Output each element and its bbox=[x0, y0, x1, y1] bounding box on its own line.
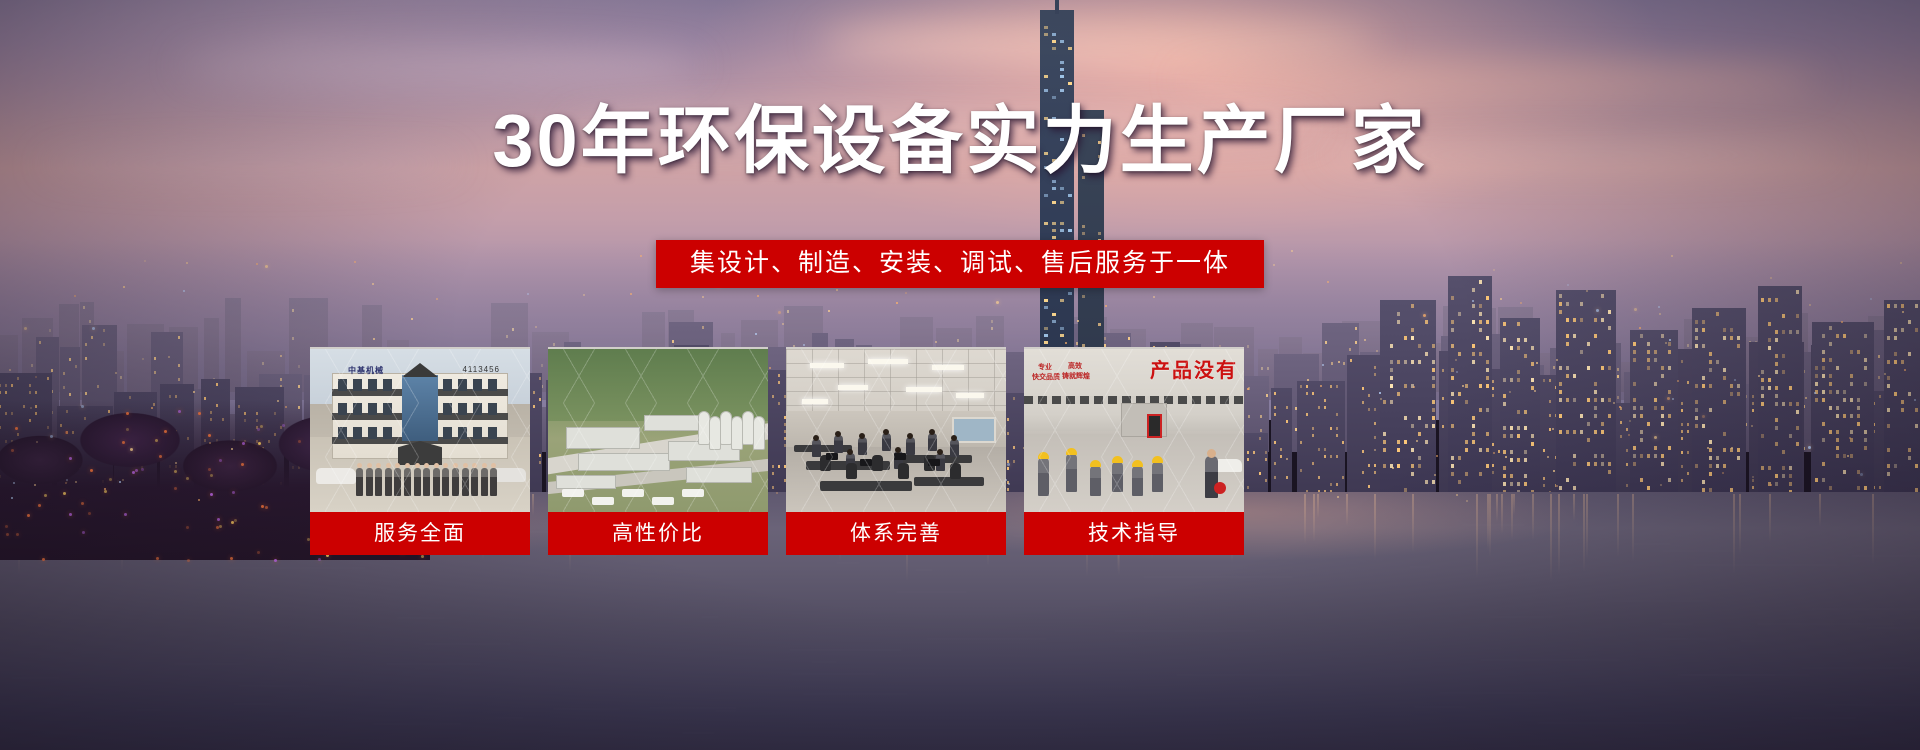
staff-figure bbox=[442, 468, 449, 496]
factory-slogan-text: 高效 bbox=[1068, 363, 1082, 372]
plant-building bbox=[578, 453, 670, 471]
ceiling-light bbox=[802, 399, 828, 404]
truck bbox=[622, 489, 644, 497]
factory-slogan-text: 铸就辉煌 bbox=[1062, 373, 1090, 382]
staff-figure bbox=[471, 468, 478, 496]
staff-figure bbox=[462, 468, 469, 496]
staff-figure bbox=[433, 468, 440, 496]
truck bbox=[652, 497, 674, 505]
office-desk bbox=[914, 477, 984, 486]
staff-figure bbox=[385, 468, 392, 496]
office-worker bbox=[928, 433, 937, 451]
plant-building bbox=[566, 427, 640, 449]
banner-subtitle: 集设计、制造、安装、调试、售后服务于一体 bbox=[656, 240, 1264, 288]
worker-figure bbox=[1112, 462, 1123, 492]
aerial-factory-plant-photo bbox=[548, 347, 768, 512]
company-headquarters-photo: 中基机械 4113456 bbox=[310, 347, 530, 512]
banner-headline: 30年环保设备实力生产厂家 bbox=[0, 104, 1920, 178]
ceiling-light bbox=[956, 393, 984, 398]
ceiling-light bbox=[906, 387, 942, 392]
building-phone-text: 4113456 bbox=[462, 365, 500, 374]
office-worker bbox=[906, 437, 915, 455]
factory-banner-text: 产品没有 bbox=[1150, 354, 1238, 383]
plant-building bbox=[686, 467, 752, 483]
feature-card-row: 中基机械 4113456 服务全面 bbox=[310, 347, 1610, 555]
staff-figure bbox=[375, 468, 382, 496]
worker-figure bbox=[1090, 466, 1101, 496]
staff-figure bbox=[394, 468, 401, 496]
staff-figure bbox=[404, 468, 411, 496]
hero-banner: 30年环保设备实力生产厂家 集设计、制造、安装、调试、售后服务于一体 bbox=[0, 0, 1920, 750]
factory-slogan-text: 快交品质 bbox=[1032, 374, 1060, 383]
storage-silo bbox=[753, 416, 765, 450]
worker-figure bbox=[1152, 462, 1163, 492]
staff-figure bbox=[481, 468, 488, 496]
plant-building bbox=[556, 475, 616, 489]
building-sign-text: 中基机械 bbox=[348, 365, 384, 376]
staff-figure bbox=[452, 468, 459, 496]
worker-figure bbox=[1066, 454, 1077, 492]
feature-card-label: 高性价比 bbox=[548, 512, 768, 555]
workshop-yard-staff-photo: 产品没有 高效 铸就辉煌 专业 快交品质 bbox=[1024, 347, 1244, 512]
feature-card[interactable]: 产品没有 高效 铸就辉煌 专业 快交品质 技 bbox=[1024, 347, 1244, 555]
truck bbox=[592, 497, 614, 505]
worker-figure bbox=[1132, 466, 1143, 496]
office-workspace-photo bbox=[786, 347, 1006, 512]
plant-building bbox=[644, 415, 702, 431]
office-worker bbox=[950, 439, 959, 457]
staff-figure bbox=[356, 468, 363, 496]
office-worker bbox=[834, 435, 843, 453]
office-desk bbox=[794, 445, 852, 452]
truck bbox=[682, 489, 704, 497]
ceiling-light bbox=[868, 359, 908, 364]
banner-subtitle-container: 集设计、制造、安装、调试、售后服务于一体 bbox=[0, 240, 1920, 288]
worker-figure bbox=[1038, 458, 1049, 496]
ceiling-light bbox=[838, 385, 868, 390]
staff-figure bbox=[366, 468, 373, 496]
office-worker bbox=[812, 439, 821, 457]
staff-figure bbox=[414, 468, 421, 496]
office-worker bbox=[882, 433, 891, 451]
office-chair bbox=[846, 463, 857, 479]
feature-card-label: 技术指导 bbox=[1024, 512, 1244, 555]
truck bbox=[562, 489, 584, 497]
ceiling-light bbox=[932, 365, 964, 370]
banner-content: 30年环保设备实力生产厂家 集设计、制造、安装、调试、售后服务于一体 bbox=[0, 0, 1920, 750]
feature-card[interactable]: 中基机械 4113456 服务全面 bbox=[310, 347, 530, 555]
factory-slogan-text: 专业 bbox=[1038, 364, 1052, 373]
office-chair bbox=[872, 455, 883, 471]
feature-card-label: 服务全面 bbox=[310, 512, 530, 555]
ceiling-light bbox=[810, 363, 844, 368]
office-chair bbox=[950, 463, 961, 479]
staff-figure bbox=[423, 468, 430, 496]
staff-figure bbox=[490, 468, 497, 496]
office-desk bbox=[820, 481, 912, 491]
office-worker bbox=[858, 437, 867, 455]
feature-card[interactable]: 高性价比 bbox=[548, 347, 768, 555]
feature-card[interactable]: 体系完善 bbox=[786, 347, 1006, 555]
feature-card-label: 体系完善 bbox=[786, 512, 1006, 555]
office-chair bbox=[898, 463, 909, 479]
